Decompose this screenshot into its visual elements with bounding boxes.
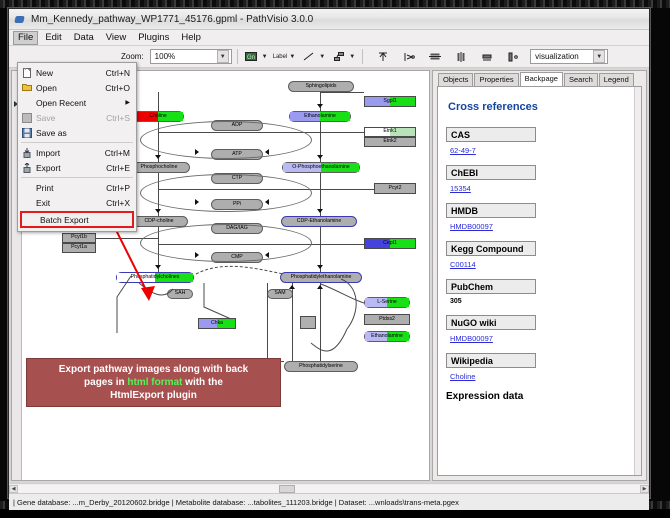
- node-label: PPi: [233, 202, 241, 207]
- xref-link[interactable]: HMDB00097: [450, 334, 493, 343]
- canvas-horizontal-scrollbar[interactable]: ◀ ▶: [9, 483, 649, 493]
- connector-line: [320, 92, 321, 111]
- expression-data-heading: Expression data: [446, 391, 633, 402]
- save-as-icon: [18, 128, 36, 138]
- reaction-loop: [140, 121, 312, 159]
- metabolite-node-o-phosphoethanolamine[interactable]: O-Phosphoethanolamine: [282, 162, 360, 173]
- metabolite-node-cdp-ethanolamine[interactable]: CDP-Ethanolamine: [281, 216, 357, 227]
- xref-value[interactable]: 62-49-7: [450, 146, 633, 155]
- arrow-head-icon: [289, 285, 295, 289]
- line-tool-icon[interactable]: [300, 48, 317, 65]
- file-menu-item-shortcut: Ctrl+E: [106, 163, 136, 173]
- gene-node-chka[interactable]: Chka: [198, 318, 236, 329]
- file-menu-item-print[interactable]: PrintCtrl+P: [18, 180, 136, 195]
- status-text: | Gene database: ...m_Derby_20120602.bri…: [13, 498, 459, 507]
- xref-link[interactable]: C00114: [450, 260, 476, 269]
- window-title-bar: Mm_Kennedy_pathway_WP1771_45176.gpml - P…: [9, 9, 649, 30]
- connector-line: [267, 283, 268, 361]
- scrollbar-track[interactable]: [18, 485, 640, 493]
- node-label: Etnk1: [383, 129, 396, 134]
- arrow-head-icon: [195, 252, 199, 258]
- interaction-dropdown-icon[interactable]: ▼: [349, 54, 355, 60]
- arrow-head-icon: [317, 285, 323, 289]
- arrow-head-icon: [265, 149, 269, 155]
- xref-value[interactable]: HMDB00097: [450, 222, 633, 231]
- xref-value[interactable]: Choline: [450, 372, 633, 381]
- annotation-line-2a: pages in: [84, 377, 127, 388]
- datanode-tool-icon[interactable]: Gn: [243, 48, 260, 65]
- file-menu-item-shortcut: Ctrl+S: [106, 113, 136, 123]
- node-label: CDP-Ethanolamine: [297, 219, 341, 224]
- node-label: CDP-choline: [144, 219, 173, 224]
- chevron-down-icon[interactable]: ▼: [217, 50, 229, 63]
- metabolite-node-cdp-choline[interactable]: CDP-choline: [130, 216, 188, 227]
- file-menu-item-shortcut: Ctrl+N: [106, 68, 136, 78]
- node-label: Ethanolamine: [371, 334, 403, 339]
- window-title: Mm_Kennedy_pathway_WP1771_45176.gpml - P…: [31, 14, 313, 25]
- node-label: CMP: [231, 255, 243, 260]
- scroll-right-icon[interactable]: ▶: [640, 485, 649, 493]
- xref-value: 305: [450, 298, 633, 305]
- node-label: ADP: [232, 123, 243, 128]
- file-menu-item-save[interactable]: SaveCtrl+S: [18, 110, 136, 125]
- menu-file[interactable]: File: [13, 31, 38, 45]
- node-label: Etnk2: [383, 139, 396, 144]
- node-label: Choline: [149, 114, 167, 119]
- tab-legend[interactable]: Legend: [599, 73, 634, 86]
- metabolite-node-sah[interactable]: SAH: [167, 289, 193, 299]
- node-label: Pcyt1b: [71, 235, 87, 240]
- folder-open-icon: [18, 83, 36, 92]
- metabolite-node-sam[interactable]: SAM: [267, 289, 293, 299]
- pathvisio-window: Mm_Kennedy_pathway_WP1771_45176.gpml - P…: [8, 8, 650, 498]
- node-label: Pcyt1a: [71, 245, 87, 250]
- file-menu-item-label: Exit: [36, 198, 106, 208]
- scrollbar-thumb[interactable]: [279, 485, 295, 493]
- connector-line: [292, 283, 293, 361]
- xref-db-kegg-compound: Kegg Compound: [446, 241, 536, 256]
- node-label: Phosphatidylcholines: [131, 275, 180, 280]
- stack-vertical-icon[interactable]: [426, 48, 443, 65]
- toolbar-separator: [362, 49, 363, 64]
- xref-link[interactable]: HMDB00097: [450, 222, 493, 231]
- metabolite-node-ethanolamine[interactable]: Ethanolamine: [289, 111, 351, 122]
- node-label: ATP: [232, 152, 242, 157]
- xref-db-cas: CAS: [446, 127, 536, 142]
- xref-db-pubchem: PubChem: [446, 279, 536, 294]
- menu-help[interactable]: Help: [176, 31, 206, 45]
- arrow-head-icon: [155, 209, 161, 213]
- file-menu-item-label: Export: [36, 163, 106, 173]
- cross-reference-list: CAS62-49-7ChEBI15354HMDBHMDB00097Kegg Co…: [446, 127, 633, 381]
- annotation-line-1: Export pathway images along with back: [33, 363, 274, 376]
- sidebar-scrollbar[interactable]: [634, 87, 641, 475]
- connector-line: [320, 92, 364, 93]
- arrow-head-icon: [317, 265, 323, 269]
- zoom-combobox[interactable]: 100% ▼: [150, 49, 232, 64]
- zoom-value: 100%: [155, 52, 175, 61]
- node-label: O-Phosphoethanolamine: [292, 165, 349, 170]
- gene-node-etnk2[interactable]: Etnk2: [364, 137, 416, 147]
- align-left-icon[interactable]: [400, 48, 417, 65]
- file-menu-item-label: Print: [36, 183, 106, 193]
- datanode-dropdown-icon[interactable]: ▼: [262, 54, 268, 60]
- menu-view[interactable]: View: [101, 31, 131, 45]
- node-label: DAG/IAG: [226, 226, 248, 231]
- file-menu-item-label: Batch Export: [40, 215, 126, 225]
- import-icon: [18, 148, 36, 158]
- annotation-highlight: html format: [127, 377, 182, 388]
- xref-link[interactable]: 62-49-7: [450, 146, 476, 155]
- status-bar: | Gene database: ...m_Derby_20120602.bri…: [9, 493, 649, 510]
- label-dropdown-icon[interactable]: ▼: [289, 54, 295, 60]
- gene-node-cept1[interactable]: Cept1: [364, 238, 416, 249]
- arrow-head-icon: [155, 155, 161, 159]
- arrow-head-icon: [317, 155, 323, 159]
- tab-search[interactable]: Search: [564, 73, 598, 86]
- submenu-arrow-icon: ▶: [125, 99, 136, 106]
- node-label: SAM: [274, 291, 285, 296]
- menu-bar[interactable]: File Edit Data View Plugins Help: [9, 30, 649, 46]
- arrow-head-icon: [265, 252, 269, 258]
- file-menu-item-label: Save: [36, 113, 106, 123]
- file-menu-item-save-as[interactable]: Save as: [18, 125, 136, 140]
- file-menu-item-label: Open: [36, 83, 105, 93]
- node-label: CTP: [232, 176, 242, 181]
- annotation-line-3: HtmlExport plugin: [33, 389, 274, 402]
- xref-link[interactable]: 15354: [450, 184, 471, 193]
- node-label: Pcyt2: [389, 186, 402, 191]
- metabolite-node-sphingolipids[interactable]: Sphingolipids: [288, 81, 354, 92]
- node-label: Ethanolamine: [304, 114, 336, 119]
- gene-node-sgpl1[interactable]: Sgpl1: [364, 96, 416, 107]
- tab-properties[interactable]: Properties: [474, 73, 518, 86]
- node-label: Ptdss2: [379, 317, 395, 322]
- node-label: Phosphatidylethanolamine: [291, 275, 352, 280]
- gene-node-pcyt1a[interactable]: Pcyt1a: [62, 243, 96, 253]
- annotation-line-2: pages in html format with the: [33, 376, 274, 389]
- file-menu-item-exit[interactable]: ExitCtrl+X: [18, 195, 136, 210]
- cross-references-heading: Cross references: [448, 101, 633, 113]
- file-menu-dropdown[interactable]: NewCtrl+NOpenCtrl+OOpen Recent▶SaveCtrl+…: [17, 62, 137, 232]
- node-label: Cept1: [383, 241, 397, 246]
- xref-db-hmdb: HMDB: [446, 203, 536, 218]
- visualization-combobox[interactable]: visualization ▼: [530, 49, 608, 64]
- metabolite-node-phosphatidylcholines[interactable]: Phosphatidylcholines: [116, 272, 194, 283]
- menu-separator: [21, 177, 133, 178]
- file-menu-item-export[interactable]: ExportCtrl+E: [18, 160, 136, 175]
- node-label: Chka: [211, 321, 223, 326]
- gene-node-unlabeled[interactable]: [300, 316, 316, 329]
- annotation-line-2b: with the: [182, 377, 223, 388]
- desktop-background: Mm_Kennedy_pathway_WP1771_45176.gpml - P…: [0, 0, 670, 509]
- node-label: L-Serine: [377, 300, 397, 305]
- gene-node-ptdss2[interactable]: Ptdss2: [364, 314, 410, 325]
- menu-plugins[interactable]: Plugins: [133, 31, 174, 45]
- file-menu-item-open[interactable]: OpenCtrl+O: [18, 80, 136, 95]
- save-icon: [18, 113, 36, 123]
- pathvisio-icon: [14, 13, 26, 25]
- xref-value[interactable]: HMDB00097: [450, 334, 633, 343]
- node-label: Phosphatidylserine: [299, 364, 343, 369]
- file-menu-item-shortcut: Ctrl+X: [106, 198, 136, 208]
- xref-link[interactable]: Choline: [450, 372, 475, 381]
- connector-line: [158, 92, 159, 111]
- node-label: Sgpl1: [383, 99, 396, 104]
- scroll-left-icon[interactable]: ◀: [9, 485, 18, 493]
- same-width-icon[interactable]: [478, 48, 495, 65]
- annotation-callout: Export pathway images along with back pa…: [26, 358, 281, 407]
- file-menu-item-open-recent[interactable]: Open Recent▶: [18, 95, 136, 110]
- align-top-icon[interactable]: [374, 48, 391, 65]
- file-menu-item-shortcut: Ctrl+M: [105, 148, 136, 158]
- node-label: Phosphocholine: [141, 165, 178, 170]
- side-panel-tabs[interactable]: Objects Properties Backpage Search Legen…: [433, 71, 646, 86]
- xref-value[interactable]: C00114: [450, 260, 633, 269]
- tab-objects[interactable]: Objects: [438, 73, 473, 86]
- node-label: Sphingolipids: [306, 84, 337, 89]
- visualization-value: visualization: [535, 52, 579, 61]
- xref-db-wikipedia: Wikipedia: [446, 353, 536, 368]
- screen-noise-top: [0, 0, 670, 8]
- connector-line: [320, 283, 321, 361]
- arrow-head-icon: [195, 149, 199, 155]
- file-menu-item-batch-export[interactable]: Batch Export: [20, 211, 134, 228]
- toolbar-separator: [237, 49, 238, 64]
- export-icon: [18, 163, 36, 173]
- side-panel[interactable]: Objects Properties Backpage Search Legen…: [432, 70, 647, 481]
- menu-separator: [21, 142, 133, 143]
- file-menu-item-shortcut: Ctrl+O: [105, 83, 136, 93]
- xref-value[interactable]: 15354: [450, 184, 633, 193]
- backpage-inner: Cross references CAS62-49-7ChEBI15354HMD…: [438, 87, 641, 408]
- metabolite-node-choline[interactable]: Choline: [132, 111, 184, 122]
- zoom-label: Zoom:: [121, 52, 144, 61]
- new-file-icon: [18, 68, 36, 78]
- metabolite-node-phosphatidylserine[interactable]: Phosphatidylserine: [284, 361, 358, 372]
- xref-db-nugo-wiki: NuGO wiki: [446, 315, 536, 330]
- gene-node-etnk1[interactable]: Etnk1: [364, 127, 416, 137]
- node-label: SAH: [175, 291, 186, 296]
- arrow-head-icon: [317, 104, 323, 108]
- gene-node-pcyt2[interactable]: Pcyt2: [374, 183, 416, 194]
- menu-edit[interactable]: Edit: [40, 31, 66, 45]
- xref-db-chebi: ChEBI: [446, 165, 536, 180]
- svg-text:Gn: Gn: [247, 55, 255, 61]
- menu-data[interactable]: Data: [69, 31, 99, 45]
- metabolite-node-ethanolamine[interactable]: Ethanolamine: [364, 331, 410, 342]
- arrow-head-icon: [195, 199, 199, 205]
- arrow-head-icon: [155, 265, 161, 269]
- line-dropdown-icon[interactable]: ▼: [319, 54, 325, 60]
- tab-backpage[interactable]: Backpage: [520, 72, 563, 86]
- file-menu-item-shortcut: Ctrl+P: [106, 183, 136, 193]
- same-height-icon[interactable]: [504, 48, 521, 65]
- chevron-down-icon[interactable]: ▼: [593, 50, 605, 63]
- file-menu-item-new[interactable]: NewCtrl+N: [18, 65, 136, 80]
- label-tool-button[interactable]: Label: [273, 54, 288, 60]
- backpage-content: Cross references CAS62-49-7ChEBI15354HMD…: [437, 86, 642, 476]
- connector-line: [320, 132, 364, 133]
- distribute-icon[interactable]: [452, 48, 469, 65]
- metabolite-node-phosphocholine[interactable]: Phosphocholine: [128, 162, 190, 173]
- file-menu-item-label: Save as: [36, 128, 130, 138]
- metabolite-node-phosphatidylethanolamine[interactable]: Phosphatidylethanolamine: [280, 272, 362, 283]
- arrow-head-icon: [265, 199, 269, 205]
- file-menu-item-label: Import: [36, 148, 105, 158]
- gene-node-pcyt1b[interactable]: Pcyt1b: [62, 233, 96, 243]
- file-menu-item-label: New: [36, 68, 106, 78]
- interaction-tool-icon[interactable]: [330, 48, 347, 65]
- file-menu-item-import[interactable]: ImportCtrl+M: [18, 145, 136, 160]
- metabolite-node-l-serine[interactable]: L-Serine: [364, 297, 410, 308]
- file-menu-item-label: Open Recent: [36, 98, 125, 108]
- reaction-loop: [140, 174, 312, 212]
- arrow-head-icon: [317, 209, 323, 213]
